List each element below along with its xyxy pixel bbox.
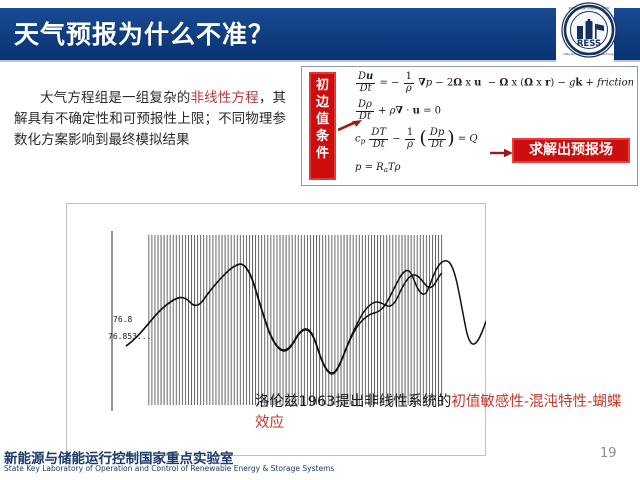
plot-hatch-region xyxy=(148,235,444,405)
ibc-char-3: 条 xyxy=(311,128,334,145)
logo-text: RESS xyxy=(577,39,601,49)
body-paragraph: 大气方程组是一组复杂的非线性方程，其解具有不确定性和可预报性上限；不同物理参数化… xyxy=(14,88,286,151)
ibc-char-0: 初 xyxy=(311,77,334,94)
svg-text:新能源与储能运行控制国家重点实验室: 新能源与储能运行控制国家重点实验室 xyxy=(569,6,610,10)
page-title: 天气预报为什么不准？ xyxy=(14,14,534,56)
y-axis-label-top: 76.8 xyxy=(113,315,132,324)
equation-momentum: DuDt = − 1ρ ∇p − 2Ω x u − Ω x (Ω x r) − … xyxy=(355,72,634,94)
header-underline xyxy=(0,60,640,62)
paragraph-highlight: 非线性方程 xyxy=(190,90,258,106)
equation-state: p = RaTρ xyxy=(355,162,401,174)
footer-lab-name-en: State Key Laboratory of Operation and Co… xyxy=(4,464,334,473)
ibc-char-1: 边 xyxy=(311,94,334,111)
svg-text:State Key Laboratory of Renewa: State Key Laboratory of Renewable Energy xyxy=(563,53,615,56)
equation-continuity: DρDt + ρ∇ · u = 0 xyxy=(355,100,441,122)
equation-thermodynamic: cp DTDt − 1ρ (DpDt) = Q xyxy=(355,128,478,150)
solve-forecast-field-box: 求解出预报场 xyxy=(512,138,630,163)
ibc-char-4: 件 xyxy=(311,145,334,162)
initial-boundary-condition-box: 初 边 值 条 件 xyxy=(309,72,336,180)
ress-logo-icon: RESS 新能源与储能运行控制国家重点实验室 State Key Laborat… xyxy=(561,2,617,58)
slide-canvas: 天气预报为什么不准？ RESS 新能源与储能运行控制国家重点实验室 State … xyxy=(0,0,640,480)
page-number: 19 xyxy=(600,446,617,461)
caption-black-text: 洛伦兹1963提出非线性系统的 xyxy=(255,394,451,410)
ibc-char-2: 值 xyxy=(311,111,334,128)
arrow-to-solve-icon xyxy=(490,147,514,159)
y-axis-label-bottom: 76.853... xyxy=(108,332,151,341)
figure-caption: 洛伦兹1963提出非线性系统的初值敏感性-混沌特性-蝴蝶效应 xyxy=(255,392,635,434)
paragraph-text-pre: 大气方程组是一组复杂的 xyxy=(40,90,190,106)
